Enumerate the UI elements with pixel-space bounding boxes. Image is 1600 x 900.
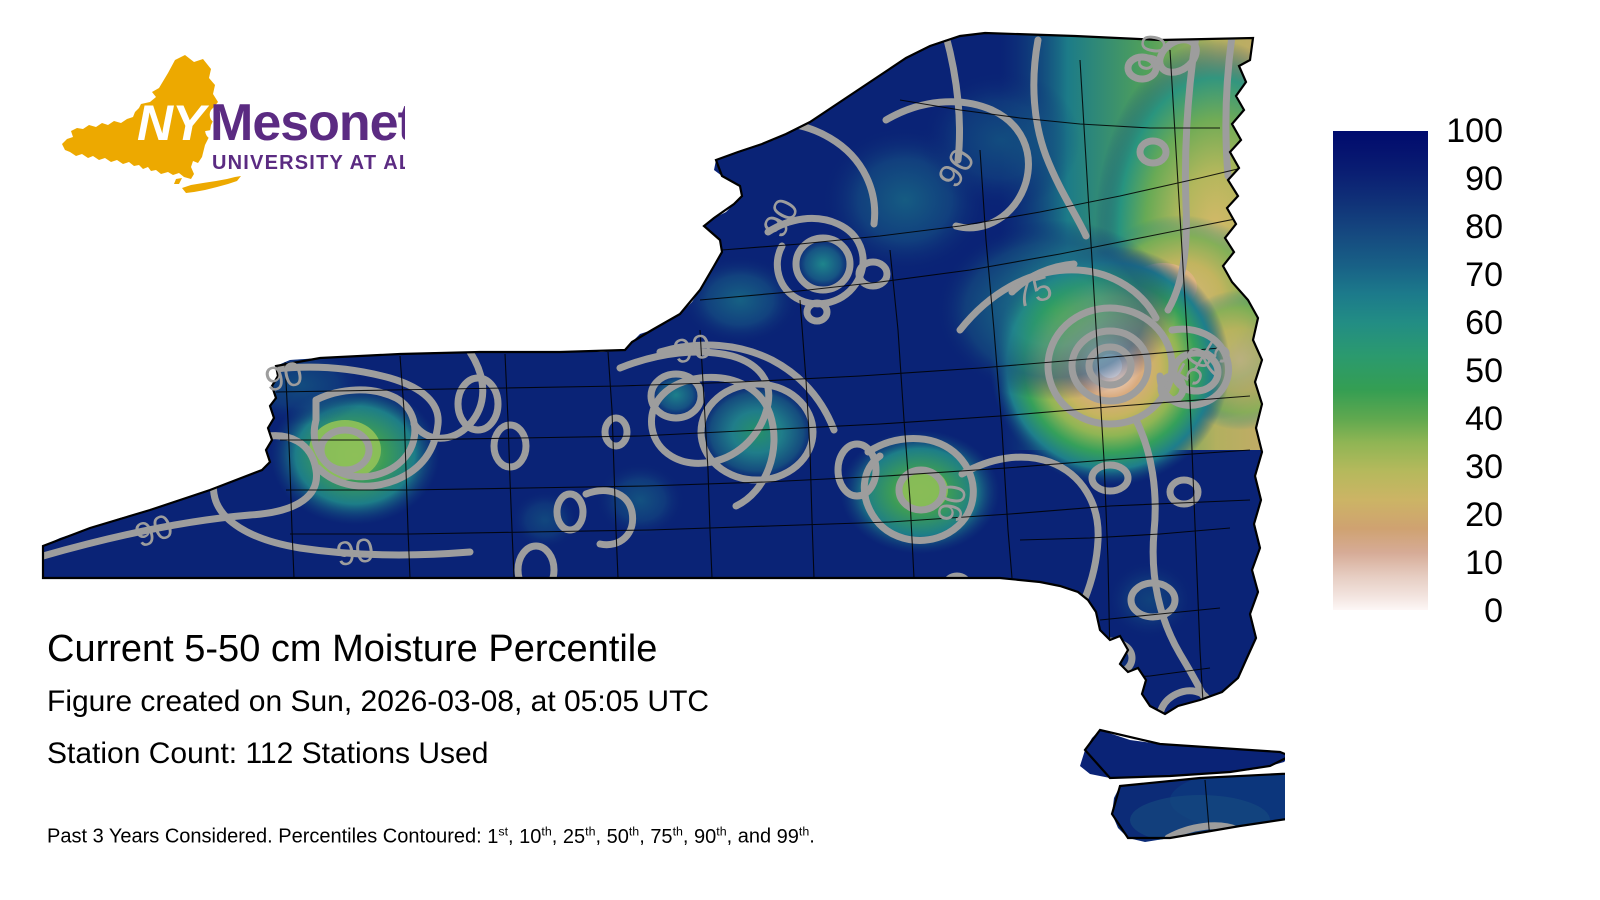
- southern-tier-blob-a: [595, 462, 685, 538]
- contour-label-90-e: 90: [670, 327, 715, 372]
- colorbar-tick-90: 90: [1437, 162, 1503, 196]
- footnote-levels: 1st, 10th, 25th, 50th, 75th, 90th, and 9…: [487, 826, 809, 848]
- noop: [0, 0, 1, 1]
- colorbar-tick-60: 60: [1437, 306, 1503, 340]
- figure-title: Current 5-50 cm Moisture Percentile: [47, 625, 1047, 673]
- colorbar-gradient: [1333, 131, 1428, 610]
- footnote-prefix: Past 3 Years Considered. Percentiles Con…: [47, 826, 487, 848]
- caption-block: Current 5-50 cm Moisture Percentile Figu…: [47, 625, 1047, 777]
- colorbar-tick-20: 20: [1437, 498, 1503, 532]
- figure-station-count: Station Count: 112 Stations Used: [47, 731, 1047, 777]
- colorbar: [1333, 131, 1428, 610]
- north-country-blob: [920, 70, 1080, 210]
- footnote-suffix: .: [809, 826, 815, 848]
- colorbar-tick-100: 100: [1437, 114, 1503, 148]
- colorbar-tick-40: 40: [1437, 402, 1503, 436]
- footnote-level-99: 99th: [777, 826, 810, 848]
- colorbar-tick-0: 0: [1437, 594, 1503, 628]
- footnote-level-50: 50th: [607, 826, 640, 848]
- footnote-level-25: 25th: [563, 826, 596, 848]
- contour-label-90-c: 90: [334, 531, 377, 574]
- contour-90-ring-q: [1047, 708, 1083, 736]
- figure-footnote: Past 3 Years Considered. Percentiles Con…: [47, 824, 815, 849]
- footnote-level-1: 1st: [487, 826, 508, 848]
- footnote-level-10: 10th: [519, 826, 552, 848]
- contour-label-90-g: 90: [1130, 32, 1174, 76]
- contour-label-90-h: 90: [930, 482, 974, 526]
- contour-90-ring-r: [959, 588, 991, 628]
- colorbar-tick-30: 30: [1437, 450, 1503, 484]
- colorbar-tick-70: 70: [1437, 258, 1503, 292]
- footnote-level-90: 90th: [694, 826, 727, 848]
- figure-created-timestamp: Figure created on Sun, 2026-03-08, at 05…: [47, 679, 1047, 725]
- colorbar-tick-80: 80: [1437, 210, 1503, 244]
- colorbar-tick-labels: 100 90 80 70 60 50 40 30 20 10 0: [1437, 108, 1527, 638]
- colorbar-tick-10: 10: [1437, 546, 1503, 580]
- mid-hudson-blob: [1105, 560, 1195, 640]
- colorbar-tick-50: 50: [1437, 354, 1503, 388]
- southern-tier-blob-b: [510, 490, 580, 550]
- footnote-level-75: 75th: [650, 826, 683, 848]
